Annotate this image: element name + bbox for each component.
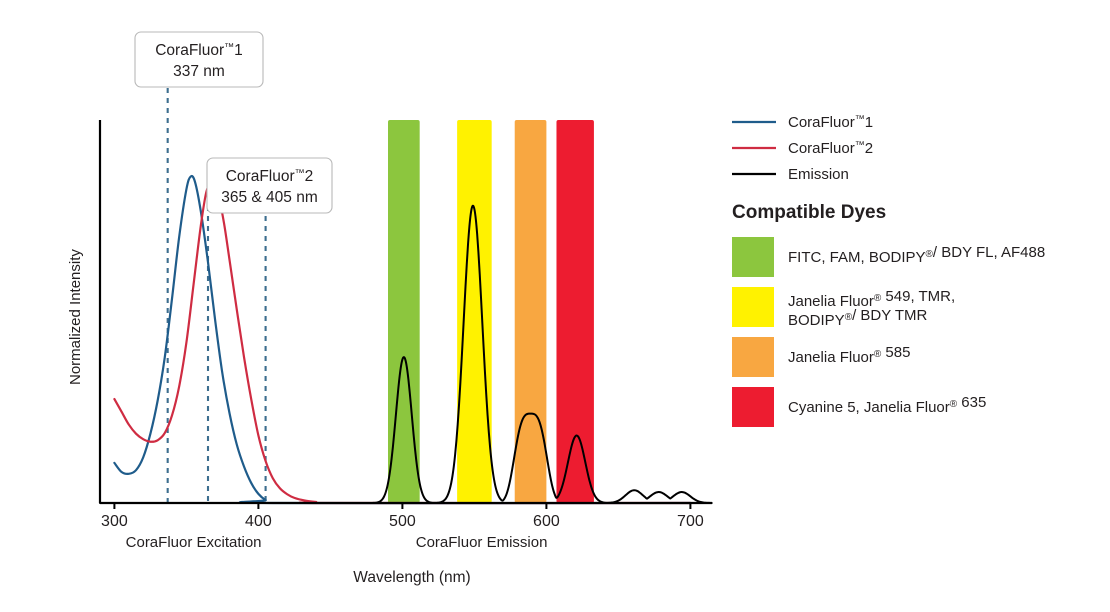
dye-swatch-3: [732, 387, 774, 427]
x-tick-label-300: 300: [101, 513, 128, 530]
region-label-emission: CoraFluor Emission: [416, 534, 548, 551]
dye-swatch-2: [732, 337, 774, 377]
yellow-band: [457, 120, 492, 503]
spectral-chart: 300400500600700 Normalized Intensity Cor…: [0, 0, 1110, 612]
red-band: [556, 120, 593, 503]
x-tick-label-400: 400: [245, 513, 272, 530]
x-tick-label-600: 600: [533, 513, 560, 530]
emission-bands: [388, 120, 594, 503]
x-axis-title: Wavelength (nm): [353, 569, 470, 586]
y-axis-title: Normalized Intensity: [67, 249, 84, 385]
legend-line-label-2: Emission: [788, 166, 849, 183]
dye-swatch-0: [732, 237, 774, 277]
corafluor2-callout-line2: 365 & 405 nm: [221, 189, 318, 206]
x-tick-label-700: 700: [677, 513, 704, 530]
region-label-excitation: CoraFluor Excitation: [126, 534, 262, 551]
orange-band: [515, 120, 547, 503]
dye-swatch-1: [732, 287, 774, 327]
corafluor1-callout-line2: 337 nm: [173, 63, 225, 80]
legend-heading: Compatible Dyes: [732, 202, 886, 223]
x-tick-label-500: 500: [389, 513, 416, 530]
